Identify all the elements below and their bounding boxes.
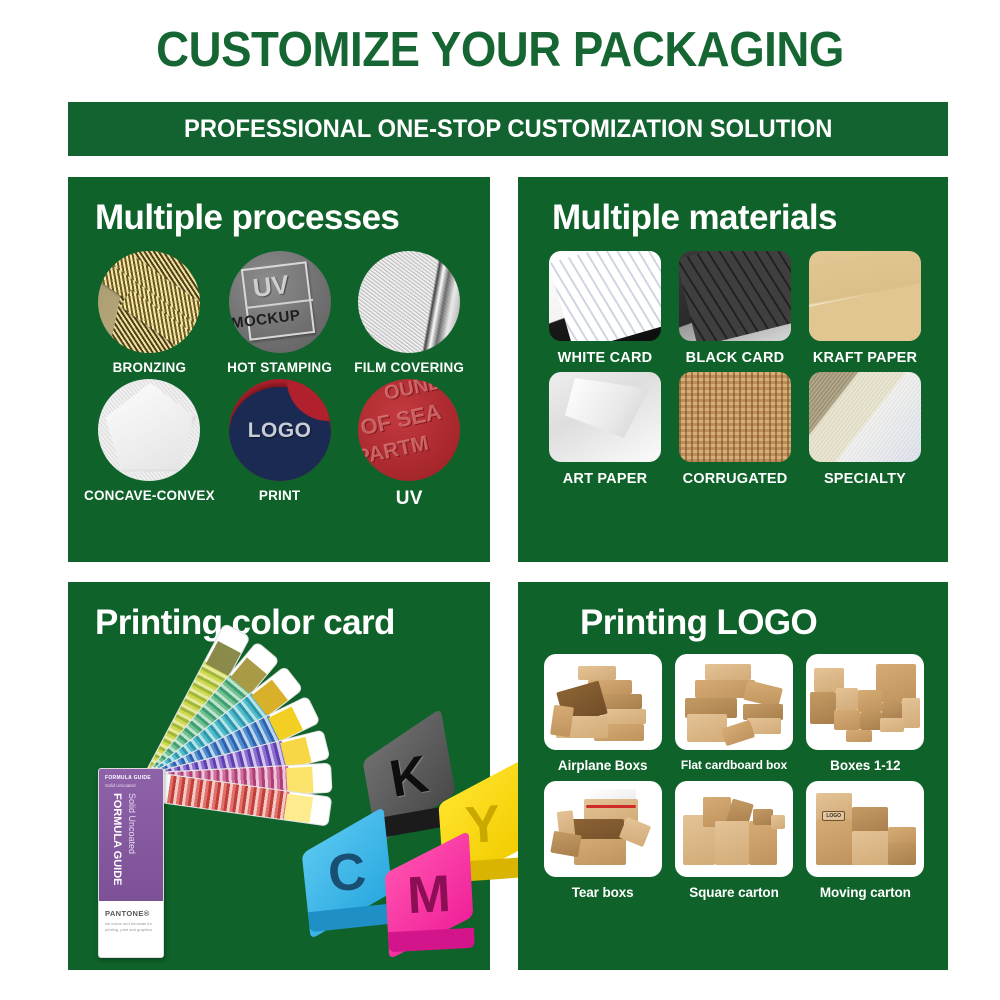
material-item-black-card[interactable]: BLACK CARD [670, 251, 800, 366]
process-item-print[interactable]: LOGO PRINT [215, 379, 345, 510]
white-cardstock-swatch-icon [549, 251, 661, 341]
page-title: CUSTOMIZE YOUR PACKAGING [35, 22, 965, 78]
material-label: CORRUGATED [683, 471, 788, 487]
kraft-paper-swatch-icon [809, 251, 921, 341]
boxes-1-12-stack-icon [806, 654, 924, 750]
panel-multiple-materials: Multiple materials WHITE CARD BLACK CARD… [518, 177, 948, 562]
color-card-illustration: FORMULA GUIDE Solid Uncoated FORMULA GUI… [68, 646, 490, 970]
box-item-moving-carton[interactable]: LOGO Moving carton [805, 781, 926, 900]
box-item-tear-boxs[interactable]: Tear boxs [542, 781, 663, 900]
process-label: BRONZING [113, 360, 187, 375]
box-item-flat-cardboard-box[interactable]: Flat cardboard box [673, 654, 794, 773]
panel-title-printing-logo: Printing LOGO [518, 582, 948, 643]
material-grid: WHITE CARD BLACK CARD KRAFT PAPER ART PA… [540, 251, 930, 487]
subtitle-text: PROFESSIONAL ONE-STOP CUSTOMIZATION SOLU… [184, 115, 832, 144]
process-label: FILM COVERING [354, 360, 464, 375]
seal-line-2: OF SEA [358, 399, 444, 441]
moving-carton-stack-icon: LOGO [806, 781, 924, 877]
process-item-hot-stamping[interactable]: UV MOCKUP HOT STAMPING [215, 251, 345, 375]
gold-foil-swatch-icon [98, 251, 200, 353]
material-item-corrugated[interactable]: CORRUGATED [670, 372, 800, 487]
box-label: Flat cardboard box [681, 758, 787, 772]
material-label: ART PAPER [563, 471, 648, 487]
process-item-bronzing[interactable]: BRONZING [84, 251, 215, 375]
cmyk-cubes-group: K Y C M [304, 726, 504, 946]
cube-letter-m: M [384, 850, 474, 940]
tear-strip-box-icon [544, 781, 662, 877]
process-label: CONCAVE-CONVEX [84, 488, 215, 503]
guide-title-vertical: FORMULA GUIDE [111, 793, 123, 897]
panel-title-processes: Multiple processes [68, 177, 490, 238]
specialty-paper-swatch-icon [809, 372, 921, 462]
panel-printing-color-card: Printing color card [68, 582, 490, 970]
pentagon-emboss-icon [98, 379, 200, 481]
process-item-uv[interactable]: OUND OF SEA PARTM UV [344, 379, 474, 510]
material-label: WHITE CARD [558, 350, 653, 366]
textured-film-icon [358, 251, 460, 353]
material-label: SPECIALTY [824, 471, 906, 487]
red-embossed-seal-icon: OUND OF SEA PARTM [358, 379, 460, 481]
logo-sticker-icon: LOGO [229, 379, 331, 481]
panel-multiple-processes: Multiple processes BRONZING UV MOCKUP HO… [68, 177, 490, 562]
panel-title-materials: Multiple materials [518, 177, 948, 238]
cube-letter-c: C [300, 826, 395, 921]
formula-guide-book: FORMULA GUIDE Solid Uncoated FORMULA GUI… [98, 768, 164, 958]
square-carton-stack-icon [675, 781, 793, 877]
packaging-customization-poster: CUSTOMIZE YOUR PACKAGING PROFESSIONAL ON… [0, 0, 1000, 1000]
magenta-cube: M [384, 850, 474, 940]
box-label: Moving carton [820, 885, 911, 900]
pantone-brand-text: PANTONE® [105, 909, 150, 918]
material-item-art-paper[interactable]: ART PAPER [540, 372, 670, 487]
material-item-white-card[interactable]: WHITE CARD [540, 251, 670, 366]
box-item-airplane-boxs[interactable]: Airplane Boxs [542, 654, 663, 773]
cyan-cube: C [300, 826, 395, 921]
box-type-grid: Airplane Boxs Flat cardboard box [542, 654, 926, 900]
box-item-boxes-1-12[interactable]: Boxes 1-12 [805, 654, 926, 773]
airplane-box-stack-icon [544, 654, 662, 750]
panel-printing-logo: Printing LOGO Airplane Boxs [518, 582, 948, 970]
material-label: BLACK CARD [686, 350, 785, 366]
uv-mockup-emboss-icon: UV MOCKUP [229, 251, 331, 353]
panel-title-color-card: Printing color card [68, 582, 490, 643]
guide-subtitle-small: Solid Uncoated [105, 783, 136, 788]
process-item-film-covering[interactable]: FILM COVERING [344, 251, 474, 375]
process-grid: BRONZING UV MOCKUP HOT STAMPING FILM COV… [84, 251, 474, 510]
guide-subtitle-vertical: Solid Uncoated [127, 793, 137, 897]
box-label: Boxes 1-12 [830, 758, 900, 773]
corrugated-board-swatch-icon [679, 372, 791, 462]
process-label: HOT STAMPING [227, 360, 332, 375]
process-item-concave-convex[interactable]: CONCAVE-CONVEX [84, 379, 215, 510]
guide-fine-print: ink colors and formulas for printing, pr… [105, 921, 159, 933]
art-paper-swatch-icon [549, 372, 661, 462]
material-item-kraft-paper[interactable]: KRAFT PAPER [800, 251, 930, 366]
uv-emboss-text: UV [251, 269, 291, 304]
box-item-square-carton[interactable]: Square carton [673, 781, 794, 900]
subtitle-banner: PROFESSIONAL ONE-STOP CUSTOMIZATION SOLU… [68, 102, 948, 156]
process-label: UV [396, 488, 423, 510]
material-item-specialty[interactable]: SPECIALTY [800, 372, 930, 487]
box-label: Airplane Boxs [558, 758, 647, 773]
box-label: Square carton [689, 885, 778, 900]
flat-cardboard-box-stack-icon [675, 654, 793, 750]
box-label: Tear boxs [572, 885, 634, 900]
material-label: KRAFT PAPER [813, 350, 917, 366]
guide-title-small: FORMULA GUIDE [105, 775, 151, 781]
black-cardstock-swatch-icon [679, 251, 791, 341]
sticker-logo-text: LOGO [229, 419, 331, 443]
carton-logo-text: LOGO [822, 811, 845, 821]
process-label: PRINT [259, 488, 301, 503]
